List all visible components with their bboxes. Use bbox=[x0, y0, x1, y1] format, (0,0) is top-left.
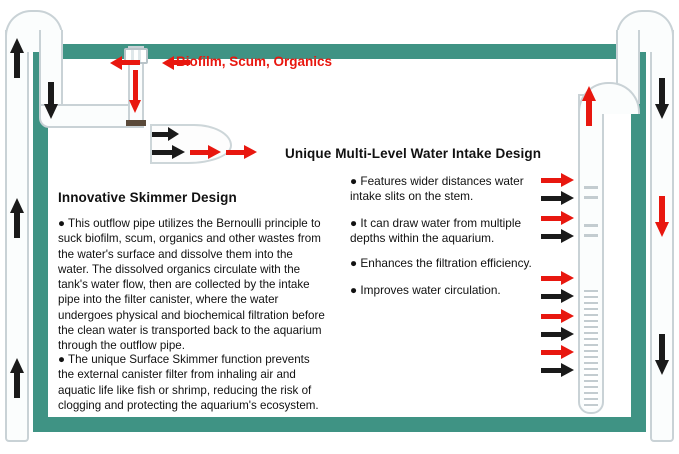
red-arrow-icon bbox=[655, 222, 669, 237]
black-arrow-icon bbox=[659, 334, 665, 360]
black-arrow-icon bbox=[152, 132, 168, 137]
red-arrow-icon bbox=[561, 211, 574, 225]
intake-bullet-3: ● Enhances the filtration efficiency. bbox=[350, 256, 550, 271]
red-arrow-icon bbox=[208, 145, 221, 159]
black-arrow-icon bbox=[152, 150, 172, 155]
red-arrow-icon bbox=[586, 100, 592, 126]
red-arrow-icon bbox=[162, 56, 174, 70]
black-arrow-icon bbox=[655, 360, 669, 375]
black-arrow-icon bbox=[14, 372, 20, 398]
intake-slit bbox=[584, 186, 598, 189]
red-arrow-icon bbox=[541, 178, 561, 183]
skimmer-paragraph-1: ● This outflow pipe utilizes the Bernoul… bbox=[58, 216, 326, 354]
black-arrow-icon bbox=[10, 38, 24, 53]
red-arrow-icon bbox=[133, 70, 138, 100]
red-arrow-icon bbox=[244, 145, 257, 159]
black-arrow-icon bbox=[561, 327, 574, 341]
red-arrow-icon bbox=[110, 56, 122, 70]
black-arrow-icon bbox=[10, 198, 24, 213]
black-arrow-icon bbox=[541, 368, 561, 373]
black-arrow-icon bbox=[48, 82, 54, 104]
red-arrow-icon bbox=[190, 150, 208, 155]
diagram-canvas: Biofilm, Scum, Organics Innovative Skimm… bbox=[0, 0, 679, 454]
red-arrow-icon bbox=[226, 150, 244, 155]
intake-bullet-2: ● It can draw water from multiple depths… bbox=[350, 216, 540, 247]
black-arrow-icon bbox=[655, 104, 669, 119]
intake-bullet-1: ● Features wider distances water intake … bbox=[350, 174, 540, 205]
intake-slit-group-lower bbox=[584, 290, 598, 408]
red-arrow-icon bbox=[659, 196, 665, 222]
skimmer-section-title: Innovative Skimmer Design bbox=[58, 190, 237, 205]
red-arrow-icon bbox=[561, 309, 574, 323]
intake-section-title: Unique Multi-Level Water Intake Design bbox=[285, 146, 541, 161]
black-arrow-icon bbox=[168, 127, 179, 141]
red-arrow-icon bbox=[541, 314, 561, 319]
red-arrow-icon bbox=[582, 86, 596, 101]
red-arrow-icon bbox=[541, 350, 561, 355]
black-arrow-icon bbox=[172, 145, 185, 159]
black-arrow-icon bbox=[659, 78, 665, 104]
intake-slit bbox=[584, 234, 598, 237]
black-arrow-icon bbox=[561, 229, 574, 243]
intake-slit bbox=[584, 224, 598, 227]
black-arrow-icon bbox=[561, 191, 574, 205]
red-arrow-icon bbox=[129, 100, 141, 113]
black-arrow-icon bbox=[10, 358, 24, 373]
intake-bullet-4: ● Improves water circulation. bbox=[350, 283, 550, 298]
black-arrow-icon bbox=[14, 52, 20, 78]
black-arrow-icon bbox=[44, 104, 58, 119]
black-arrow-icon bbox=[541, 196, 561, 201]
red-arrow-icon bbox=[561, 271, 574, 285]
callout-biofilm-label: Biofilm, Scum, Organics bbox=[176, 54, 332, 69]
black-arrow-icon bbox=[561, 363, 574, 377]
red-arrow-icon bbox=[561, 345, 574, 359]
intake-slit bbox=[584, 196, 598, 199]
skimmer-paragraph-2: ● The unique Surface Skimmer function pr… bbox=[58, 352, 326, 413]
black-arrow-icon bbox=[541, 332, 561, 337]
black-arrow-icon bbox=[561, 289, 574, 303]
red-arrow-icon bbox=[541, 276, 561, 281]
black-arrow-icon bbox=[541, 234, 561, 239]
black-arrow-icon bbox=[14, 212, 20, 238]
red-arrow-icon bbox=[541, 216, 561, 221]
skimmer-collar bbox=[126, 120, 146, 126]
red-arrow-icon bbox=[561, 173, 574, 187]
